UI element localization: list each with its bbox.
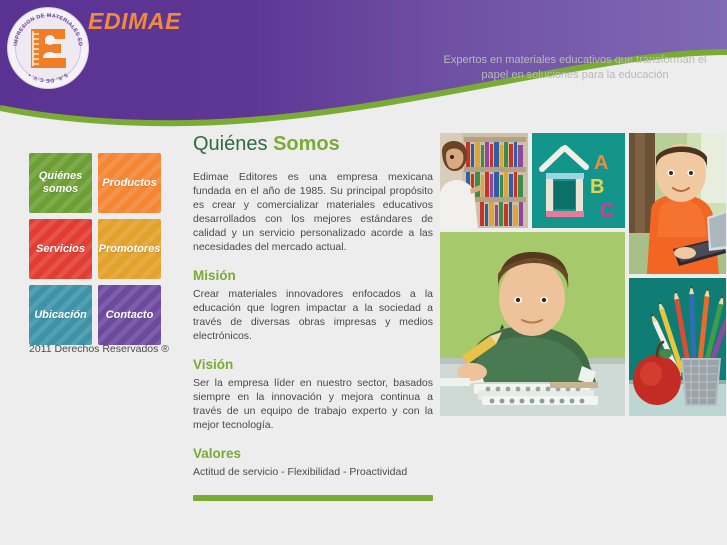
nav-label-promotores: Promotores: [98, 243, 161, 256]
edimae-e-mark-icon: [25, 25, 71, 71]
page-title-part1: Quiénes: [193, 133, 273, 155]
apple-and-pencils-art: [629, 278, 726, 416]
page-title-part2: Somos: [273, 133, 340, 155]
svg-text:C: C: [600, 200, 614, 222]
section-heading-valores: Valores: [193, 446, 433, 461]
photo-boy-with-laptop: [629, 133, 726, 274]
nav-tile-servicios[interactable]: Servicios: [29, 219, 92, 279]
section-divider-rule: [193, 495, 433, 501]
boy-at-bookshelf-art: [440, 133, 528, 228]
intro-paragraph: Edimae Editores es una empresa mexicana …: [193, 170, 433, 254]
main-navigation: Quiénes somos Productos Servicios Promot…: [29, 153, 161, 351]
nav-label-servicios: Servicios: [33, 243, 88, 256]
nav-tile-quienes-somos[interactable]: Quiénes somos: [29, 153, 92, 213]
nav-tile-contacto[interactable]: Contacto: [98, 285, 161, 345]
section-body-valores: Actitud de servicio - Flexibilidad - Pro…: [193, 465, 433, 479]
chalk-house-abc-art: A B C: [532, 133, 625, 228]
nav-row-2: Servicios Promotores: [29, 219, 161, 279]
svg-text:B: B: [590, 176, 604, 198]
section-heading-vision: Visión: [193, 357, 433, 372]
header-tagline: Expertos en materiales educativos que tr…: [430, 53, 720, 83]
section-body-vision: Ser la empresa líder en nuestro sector, …: [193, 376, 433, 432]
brand-wordmark: EDIMAE: [88, 8, 181, 35]
site-header: EDICION E IMPRESION DE MATERIALES EDUCAT…: [0, 0, 727, 132]
photo-chalk-house-abc: A B C: [532, 133, 625, 228]
nav-label-productos: Productos: [99, 177, 159, 190]
company-seal-logo: EDICION E IMPRESION DE MATERIALES EDUCAT…: [8, 8, 88, 88]
copyright-notice: 2011 Derechos Reservados ®: [29, 343, 169, 355]
photo-boy-writing-notebook: [440, 232, 625, 416]
photo-collage: A B C: [440, 133, 726, 416]
nav-row-3: Ubicación Contacto: [29, 285, 161, 345]
page-root: EDICION E IMPRESION DE MATERIALES EDUCAT…: [0, 0, 727, 545]
svg-text:A: A: [594, 152, 608, 174]
nav-label-ubicacion: Ubicación: [31, 309, 90, 322]
photo-apple-and-pencils: [629, 278, 726, 416]
boy-with-laptop-art: [629, 133, 726, 274]
seal-text-lower: S.A. DE C.V. •: [27, 71, 68, 83]
nav-tile-productos[interactable]: Productos: [98, 153, 161, 213]
nav-label-quienes-somos: Quiénes somos: [29, 170, 92, 196]
photo-boy-at-bookshelf: [440, 133, 528, 228]
section-heading-mision: Misión: [193, 268, 433, 283]
page-title: Quiénes Somos: [193, 133, 433, 156]
nav-tile-ubicacion[interactable]: Ubicación: [29, 285, 92, 345]
main-content: Quiénes Somos Edimae Editores es una emp…: [193, 133, 433, 501]
nav-tile-promotores[interactable]: Promotores: [98, 219, 161, 279]
section-body-mision: Crear materiales innovadores enfocados a…: [193, 287, 433, 343]
boy-writing-notebook-art: [440, 232, 625, 416]
nav-row-1: Quiénes somos Productos: [29, 153, 161, 213]
nav-label-contacto: Contacto: [103, 309, 157, 322]
